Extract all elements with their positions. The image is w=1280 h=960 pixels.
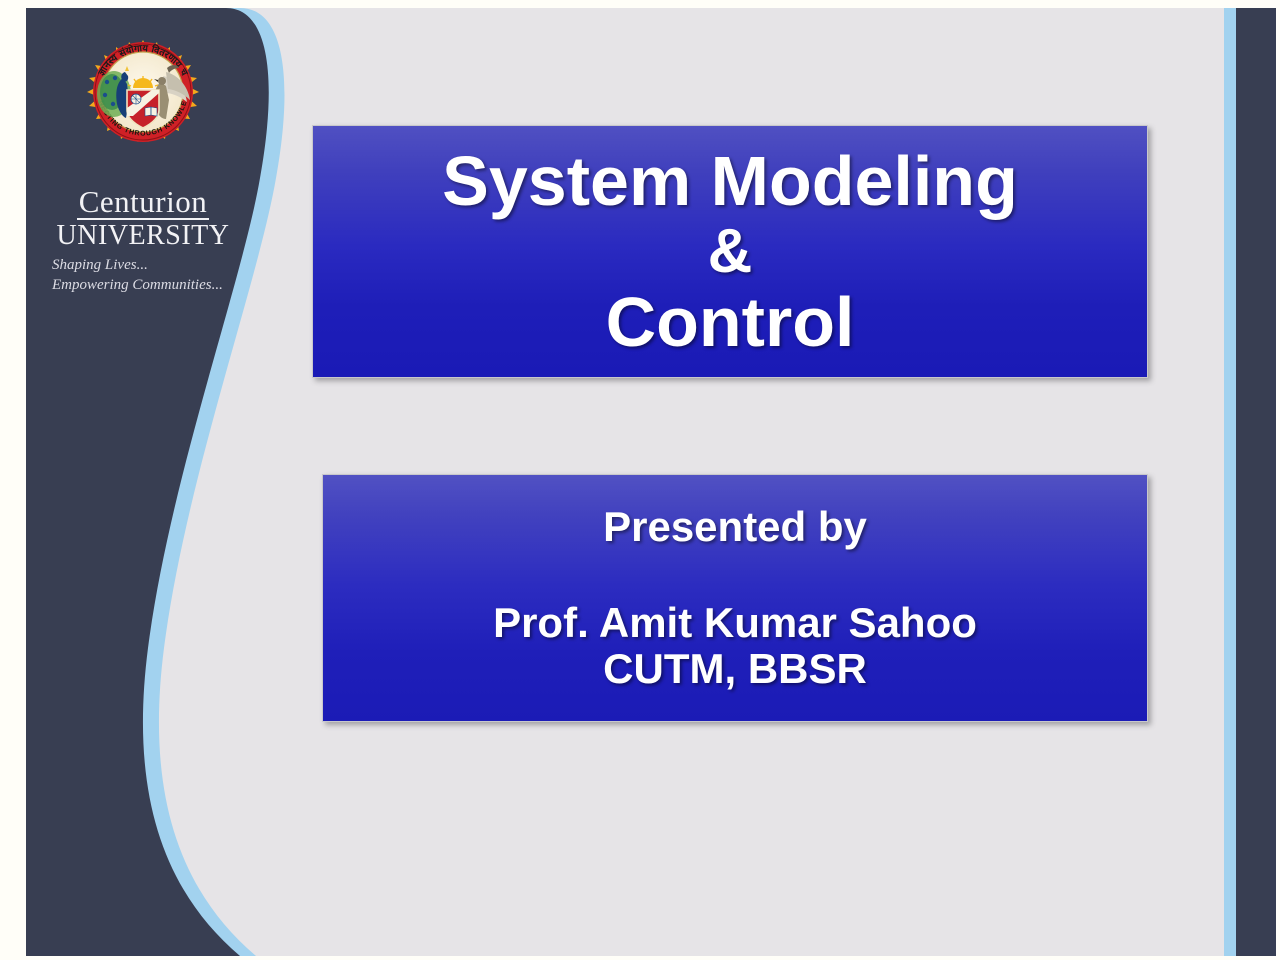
university-tagline-1: Shaping Lives...	[52, 256, 238, 276]
title-line-2: &	[313, 217, 1147, 286]
right-dark-band	[1236, 8, 1276, 956]
subtitle-line-1: Presented by	[323, 504, 1147, 550]
right-accent-stripe	[1224, 8, 1236, 956]
title-line-1: System Modeling	[313, 145, 1147, 217]
slide-title-box: System Modeling & Control	[312, 125, 1148, 378]
subtitle-line-3: CUTM, BBSR	[323, 646, 1147, 692]
centurion-emblem-icon: ज्ञानस्य संयोगाय वितरणाय च CONNECTING TH…	[67, 38, 219, 182]
university-name: Centurion	[77, 186, 210, 220]
university-logo: ज्ञानस्य संयोगाय वितरणाय च CONNECTING TH…	[48, 38, 238, 296]
presentation-slide: ज्ञानस्य संयोगाय वितरणाय च CONNECTING TH…	[0, 0, 1280, 960]
slide-subtitle-box: Presented by Prof. Amit Kumar Sahoo CUTM…	[322, 474, 1148, 722]
title-line-3: Control	[313, 286, 1147, 358]
subtitle-line-2: Prof. Amit Kumar Sahoo	[323, 600, 1147, 646]
subtitle-spacer	[323, 550, 1147, 600]
university-subname: UNIVERSITY	[48, 221, 238, 250]
university-tagline-2: Empowering Communities...	[52, 276, 238, 296]
